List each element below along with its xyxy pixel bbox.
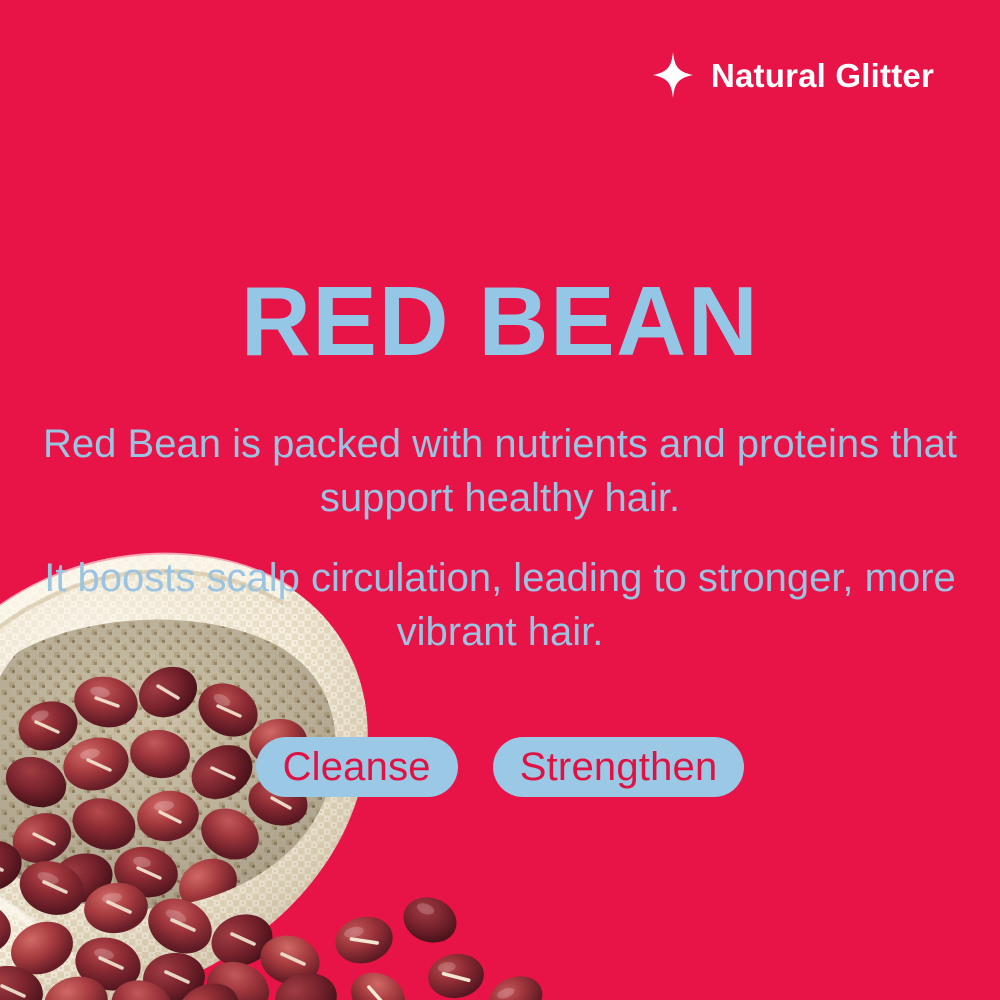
description-paragraph-1: Red Bean is packed with nutrients and pr… bbox=[0, 418, 1000, 525]
sack-front-fold bbox=[0, 856, 136, 1000]
brand-name: Natural Glitter bbox=[711, 59, 934, 92]
sparkle-icon bbox=[653, 52, 693, 98]
beans-stray bbox=[330, 890, 548, 1000]
benefit-tag-row: Cleanse Strengthen bbox=[0, 737, 1000, 797]
beans-spilled bbox=[0, 834, 341, 1000]
brand-lockup: Natural Glitter bbox=[653, 52, 934, 98]
description-paragraph-2: It boosts scalp circulation, leading to … bbox=[0, 552, 1000, 659]
benefit-tag-strengthen[interactable]: Strengthen bbox=[493, 737, 745, 797]
benefit-tag-cleanse[interactable]: Cleanse bbox=[256, 737, 458, 797]
ingredient-poster: Natural Glitter RED BEAN Red Bean is pac… bbox=[0, 0, 1000, 1000]
page-title: RED BEAN bbox=[5, 272, 995, 370]
